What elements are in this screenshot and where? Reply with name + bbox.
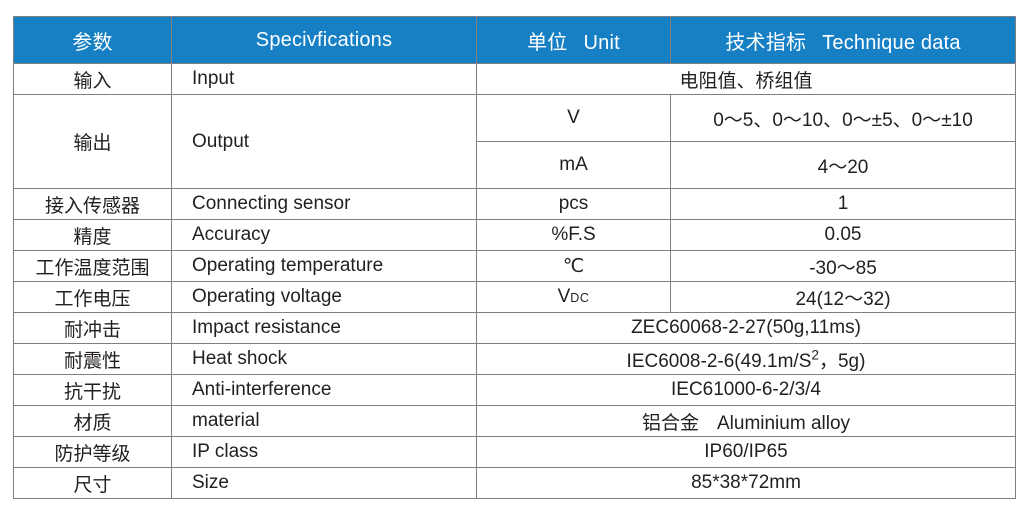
table-row: 材质 material 铝合金Aluminium alloy [14, 406, 1016, 437]
row-data-value: IP60/IP65 [477, 437, 1016, 468]
column-header-unit-en: Unit [584, 32, 620, 54]
row-unit: %F.S [477, 220, 671, 251]
table-row: 防护等级 IP class IP60/IP65 [14, 437, 1016, 468]
table-row: 工作电压 Operating voltage VDC 24(12～32) [14, 282, 1016, 313]
row-data-suffix: ，5g) [819, 351, 865, 372]
row-specification-en: Operating temperature [172, 251, 477, 282]
row-data-value: 电阻值、桥组值 [477, 64, 1016, 95]
table-row: 尺寸 Size 85*38*72mm [14, 468, 1016, 499]
table-row: 耐冲击 Impact resistance ZEC60068-2-27(50g,… [14, 313, 1016, 344]
row-unit-subscript: DC [570, 291, 589, 305]
row-data-value: ZEC60068-2-27(50g,11ms) [477, 313, 1016, 344]
row-parameter-cn: 精度 [14, 220, 172, 251]
row-data-cn: 铝合金 [642, 413, 699, 434]
table-row: 耐震性 Heat shock IEC6008-2-6(49.1m/S2，5g) [14, 344, 1016, 375]
row-parameter-cn: 工作电压 [14, 282, 172, 313]
specification-table: 参数 Specivfications 单位Unit 技术指标Technique … [13, 16, 1016, 499]
row-parameter-cn: 尺寸 [14, 468, 172, 499]
row-unit: pcs [477, 189, 671, 220]
row-data-value: 0.05 [671, 220, 1016, 251]
row-specification-en: Output [172, 95, 477, 189]
table-body: 输入 Input 电阻值、桥组值 输出 Output V 0～5、0～10、0～… [14, 64, 1016, 499]
row-data-value: 85*38*72mm [477, 468, 1016, 499]
row-specification-en: Anti-interference [172, 375, 477, 406]
row-data-value: 4～20 [671, 142, 1016, 189]
row-specification-en: Operating voltage [172, 282, 477, 313]
table-row: 接入传感器 Connecting sensor pcs 1 [14, 189, 1016, 220]
row-specification-en: Input [172, 64, 477, 95]
table-row: 精度 Accuracy %F.S 0.05 [14, 220, 1016, 251]
column-header-technique-en: Technique data [822, 32, 960, 54]
column-header-unit-cn: 单位 [527, 32, 567, 54]
row-parameter-cn: 材质 [14, 406, 172, 437]
row-unit: mA [477, 142, 671, 189]
row-data-superscript: 2 [811, 347, 819, 362]
column-header-technique-data: 技术指标Technique data [671, 17, 1016, 64]
row-data-value: IEC61000-6-2/3/4 [477, 375, 1016, 406]
table-row: 工作温度范围 Operating temperature ℃ -30～85 [14, 251, 1016, 282]
table-row: 输出 Output V 0～5、0～10、0～±5、0～±10 [14, 95, 1016, 142]
row-parameter-cn: 耐冲击 [14, 313, 172, 344]
table-header-row: 参数 Specivfications 单位Unit 技术指标Technique … [14, 17, 1016, 64]
row-data-value: IEC6008-2-6(49.1m/S2，5g) [477, 344, 1016, 375]
column-header-parameter-cn: 参数 [72, 32, 112, 54]
row-unit: V [477, 95, 671, 142]
row-data-prefix: IEC6008-2-6(49.1m/S [627, 351, 812, 372]
row-specification-en: Impact resistance [172, 313, 477, 344]
table-header: 参数 Specivfications 单位Unit 技术指标Technique … [14, 17, 1016, 64]
row-unit: ℃ [477, 251, 671, 282]
row-data-value: 0～5、0～10、0～±5、0～±10 [671, 95, 1016, 142]
row-data-en: Aluminium alloy [717, 413, 850, 434]
row-unit: VDC [477, 282, 671, 313]
row-specification-en: Connecting sensor [172, 189, 477, 220]
row-parameter-cn: 耐震性 [14, 344, 172, 375]
row-specification-en: IP class [172, 437, 477, 468]
row-data-value: 24(12～32) [671, 282, 1016, 313]
column-header-technique-cn: 技术指标 [725, 32, 806, 54]
table-row: 抗干扰 Anti-interference IEC61000-6-2/3/4 [14, 375, 1016, 406]
row-specification-en: material [172, 406, 477, 437]
column-header-unit: 单位Unit [477, 17, 671, 64]
specification-table-container: 参数 Specivfications 单位Unit 技术指标Technique … [13, 16, 1015, 499]
column-header-parameter: 参数 [14, 17, 172, 64]
column-header-specifications-en: Specivfications [256, 29, 392, 51]
row-data-value: -30～85 [671, 251, 1016, 282]
row-unit-main: V [558, 286, 571, 307]
row-specification-en: Heat shock [172, 344, 477, 375]
row-parameter-cn: 防护等级 [14, 437, 172, 468]
row-parameter-cn: 输出 [14, 95, 172, 189]
row-parameter-cn: 输入 [14, 64, 172, 95]
row-parameter-cn: 接入传感器 [14, 189, 172, 220]
row-data-value: 1 [671, 189, 1016, 220]
column-header-specifications: Specivfications [172, 17, 477, 64]
row-data-value: 铝合金Aluminium alloy [477, 406, 1016, 437]
row-specification-en: Size [172, 468, 477, 499]
row-parameter-cn: 抗干扰 [14, 375, 172, 406]
row-specification-en: Accuracy [172, 220, 477, 251]
row-parameter-cn: 工作温度范围 [14, 251, 172, 282]
table-row: 输入 Input 电阻值、桥组值 [14, 64, 1016, 95]
